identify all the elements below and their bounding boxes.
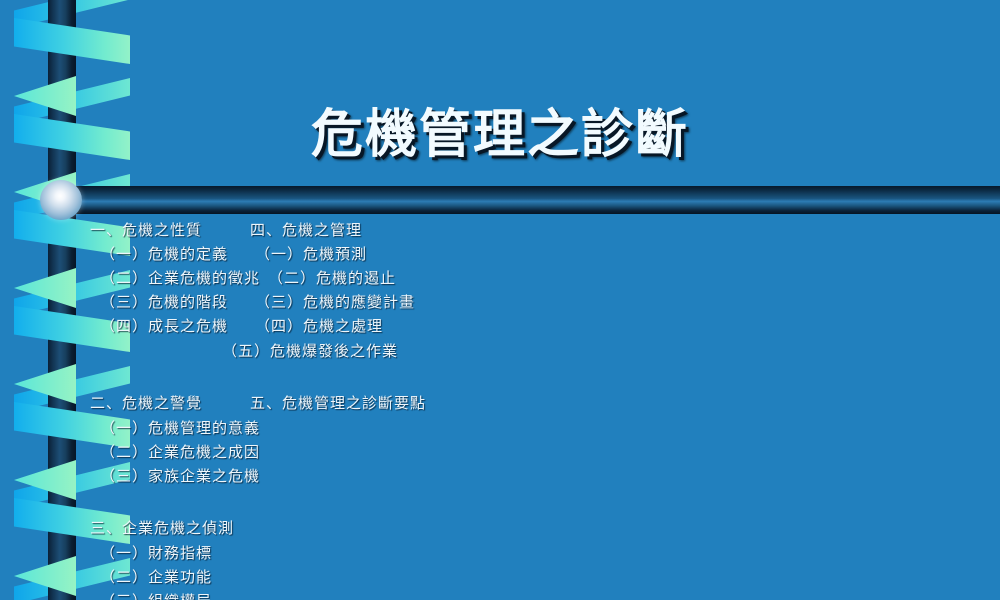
outline-item: （二）危機的遏止 <box>268 267 396 288</box>
bullet-sphere-icon <box>40 180 82 220</box>
outline-item: （二）企業危機的徵兆 <box>100 267 260 288</box>
outline-item: （二）企業功能 <box>100 566 212 587</box>
outline-item: 四、危機之管理 <box>250 219 362 240</box>
outline-item: （五）危機爆發後之作業 <box>222 340 398 361</box>
outline-item: 一、危機之性質 <box>90 219 202 240</box>
outline-body: 一、危機之性質 （一）危機的定義 （二）企業危機的徵兆 （三）危機的階段 （四）… <box>0 0 1000 600</box>
outline-item: （三）組織權局 <box>100 590 212 600</box>
outline-item: 二、危機之警覺 <box>90 392 202 413</box>
outline-item: 五、危機管理之診斷要點 <box>250 392 426 413</box>
outline-item: （一）財務指標 <box>100 542 212 563</box>
outline-item: （一）危機管理的意義 <box>100 417 260 438</box>
outline-item: （一）危機的定義 <box>100 243 228 264</box>
presentation-slide: 危機管理之診斷 一、危機之性質 （一）危機的定義 （二）企業危機的徵兆 （三）危… <box>0 0 1000 600</box>
outline-item: （二）企業危機之成因 <box>100 441 260 462</box>
outline-item: 三、企業危機之偵測 <box>90 517 234 538</box>
outline-item: （三）家族企業之危機 <box>100 465 260 486</box>
outline-item: （三）危機的應變計畫 <box>255 291 415 312</box>
outline-item: （一）危機預測 <box>255 243 367 264</box>
outline-item: （三）危機的階段 <box>100 291 228 312</box>
outline-item: （四）成長之危機 <box>100 315 228 336</box>
outline-item: （四）危機之處理 <box>255 315 383 336</box>
